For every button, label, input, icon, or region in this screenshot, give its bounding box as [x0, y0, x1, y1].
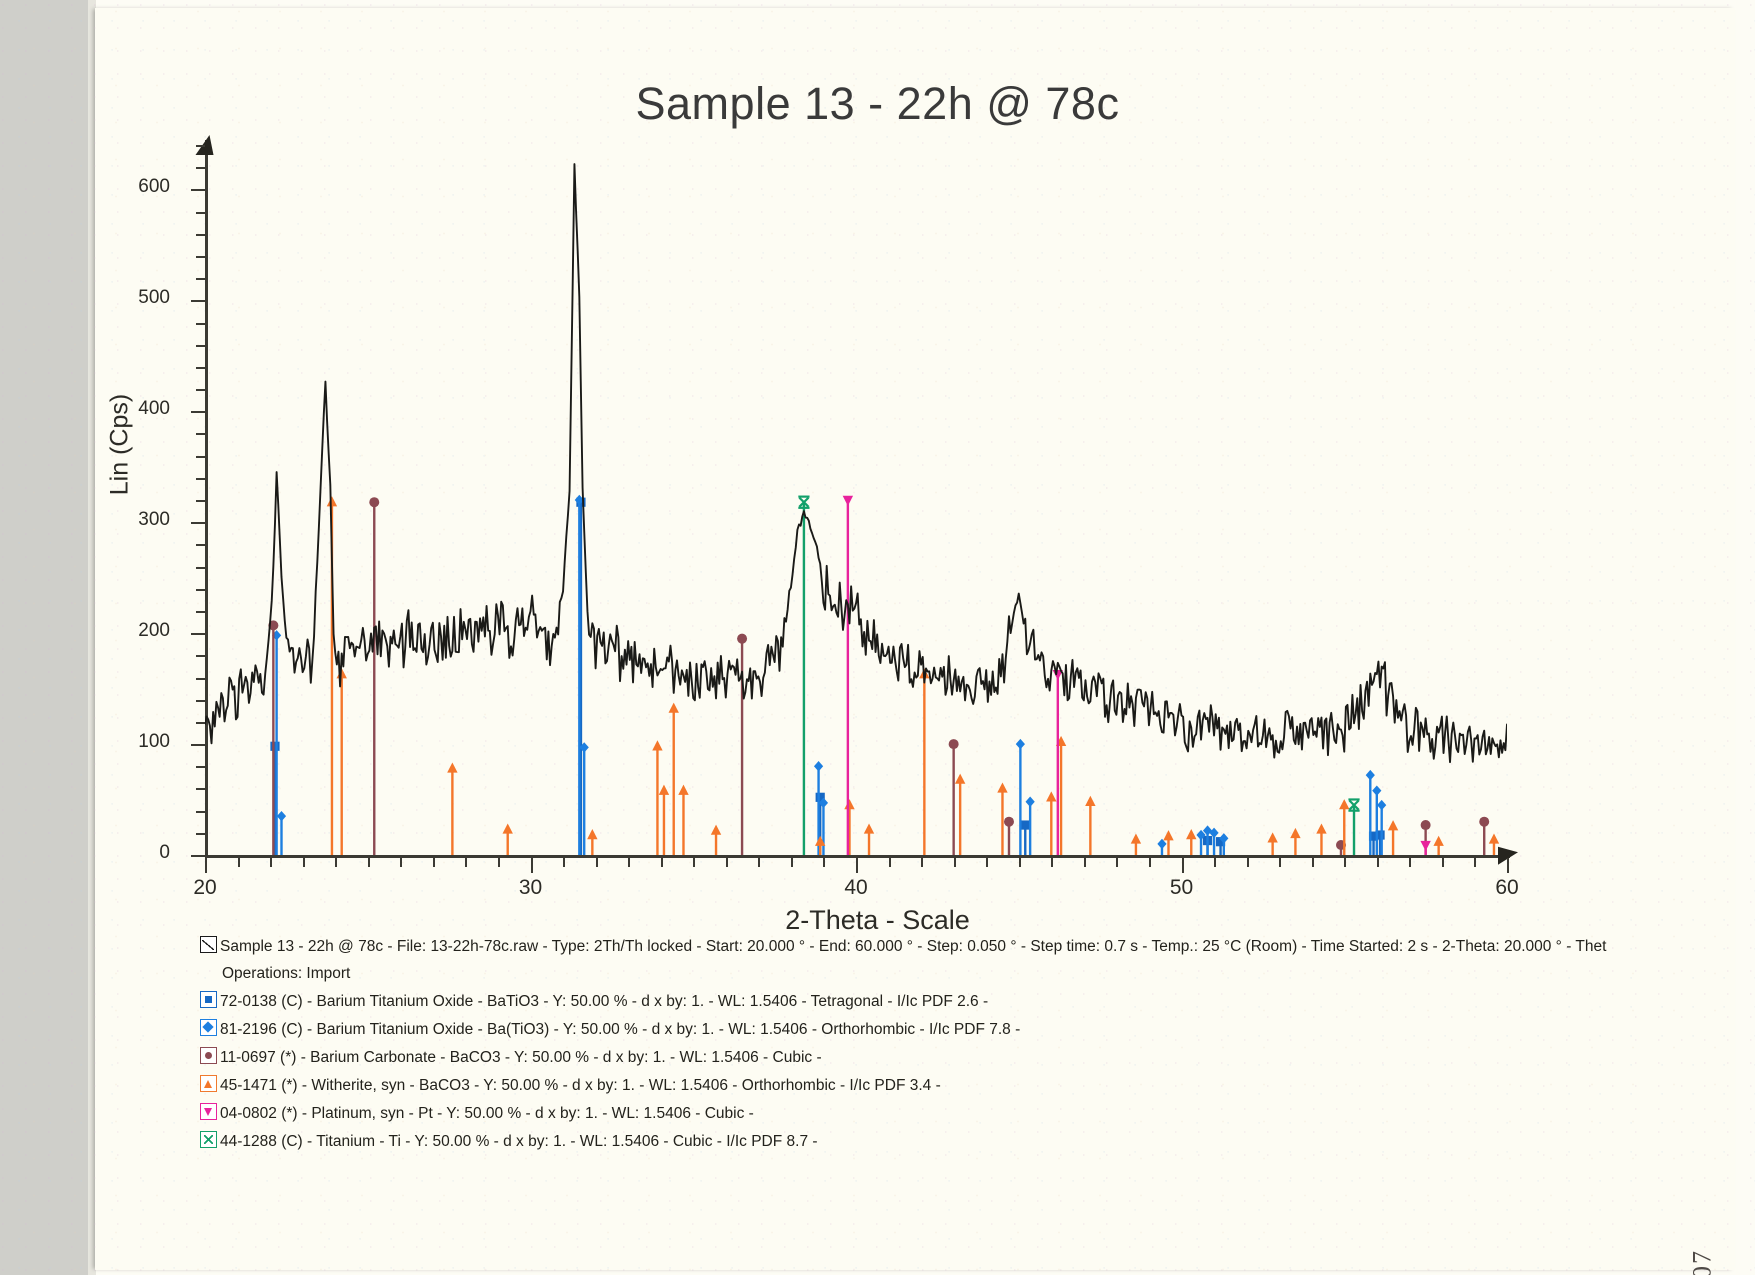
x-minor-tick	[1214, 858, 1216, 867]
y-minor-tick	[196, 212, 205, 214]
y-minor-tick	[196, 700, 205, 702]
y-major-tick	[191, 855, 205, 857]
x-minor-tick	[1019, 858, 1021, 867]
x-minor-tick	[954, 858, 956, 867]
triangle-down-marker-icon	[200, 1103, 217, 1120]
x-tick-label: 30	[519, 876, 542, 900]
x-minor-tick	[596, 858, 598, 867]
y-minor-tick	[196, 678, 205, 680]
legend-operations: Operations: Import	[200, 963, 1600, 985]
x-minor-tick	[823, 858, 825, 867]
legend-phase-row[interactable]: 81-2196 (C) - Barium Titanium Oxide - Ba…	[200, 1018, 1600, 1041]
y-minor-tick	[196, 167, 205, 169]
legend-phase-row[interactable]: 44-1288 (C) - Titanium - Ti - Y: 50.00 %…	[200, 1130, 1600, 1153]
handwritten-date-annotation: 7-8-07	[1687, 1249, 1717, 1275]
y-minor-tick	[196, 145, 205, 147]
x-tick-label: 50	[1170, 876, 1193, 900]
x-minor-tick	[628, 858, 630, 867]
x-minor-tick	[889, 858, 891, 867]
legend-phase-text: 44-1288 (C) - Titanium - Ti - Y: 50.00 %…	[220, 1130, 818, 1153]
legend-phase-rows: 72-0138 (C) - Barium Titanium Oxide - Ba…	[200, 990, 1600, 1153]
x-minor-tick	[1474, 858, 1476, 867]
y-major-tick	[191, 300, 205, 302]
x-minor-tick	[368, 858, 370, 867]
peak-marker-sticks	[268, 495, 1499, 855]
x-minor-tick	[1442, 858, 1444, 867]
x-axis-title: 2-Theta - Scale	[0, 905, 1755, 936]
x-minor-tick	[1149, 858, 1151, 867]
x-major-tick	[856, 858, 858, 873]
x-minor-tick	[563, 858, 565, 867]
x-minor-tick	[1279, 858, 1281, 867]
y-minor-tick	[196, 278, 205, 280]
y-major-tick	[191, 189, 205, 191]
y-minor-tick	[196, 367, 205, 369]
scanned-page: Sample 13 - 22h @ 78c 010020030040050060…	[0, 0, 1755, 1275]
x-minor-tick	[238, 858, 240, 867]
legend-phase-row[interactable]: 04-0802 (*) - Platinum, syn - Pt - Y: 50…	[200, 1102, 1600, 1125]
y-tick-label: 0	[110, 842, 170, 864]
y-minor-tick	[196, 256, 205, 258]
y-minor-tick	[196, 478, 205, 480]
y-major-tick	[191, 633, 205, 635]
y-minor-tick	[196, 389, 205, 391]
x-box-marker-icon	[200, 1131, 217, 1148]
x-minor-tick	[1409, 858, 1411, 867]
y-minor-tick	[196, 833, 205, 835]
x-minor-tick	[791, 858, 793, 867]
x-minor-tick	[335, 858, 337, 867]
y-minor-tick	[196, 766, 205, 768]
legend-phase-row[interactable]: 11-0697 (*) - Barium Carbonate - BaCO3 -…	[200, 1046, 1600, 1069]
x-tick-label: 60	[1495, 876, 1518, 900]
x-minor-tick	[693, 858, 695, 867]
y-minor-tick	[196, 589, 205, 591]
x-tick-label: 40	[844, 876, 867, 900]
x-minor-tick	[726, 858, 728, 867]
triangle-up-marker-icon	[200, 1075, 217, 1092]
x-major-tick	[205, 858, 207, 873]
x-minor-tick	[465, 858, 467, 867]
y-minor-tick	[196, 345, 205, 347]
x-major-tick	[1507, 858, 1509, 873]
y-major-tick	[191, 522, 205, 524]
y-minor-tick	[196, 788, 205, 790]
legend-phase-row[interactable]: 45-1471 (*) - Witherite, syn - BaCO3 - Y…	[200, 1074, 1600, 1097]
y-minor-tick	[196, 234, 205, 236]
x-minor-tick	[1377, 858, 1379, 867]
y-tick-label: 200	[110, 620, 170, 642]
x-minor-tick	[986, 858, 988, 867]
legend-phase-text: 04-0802 (*) - Platinum, syn - Pt - Y: 50…	[220, 1102, 754, 1125]
y-tick-label: 500	[110, 287, 170, 309]
x-minor-tick	[921, 858, 923, 867]
square-marker-icon	[200, 991, 217, 1008]
y-minor-tick	[196, 433, 205, 435]
legend-scan-text: Sample 13 - 22h @ 78c - File: 13-22h-78c…	[220, 935, 1606, 958]
page-left-margin	[0, 0, 89, 1275]
x-minor-tick	[1312, 858, 1314, 867]
legend-phase-row[interactable]: 72-0138 (C) - Barium Titanium Oxide - Ba…	[200, 990, 1600, 1013]
x-minor-tick	[400, 858, 402, 867]
x-minor-tick	[1344, 858, 1346, 867]
scan-trace	[205, 164, 1507, 762]
x-minor-tick	[758, 858, 760, 867]
xrd-diffractogram-plot	[205, 145, 1507, 855]
y-minor-tick	[196, 811, 205, 813]
legend-phase-text: 72-0138 (C) - Barium Titanium Oxide - Ba…	[220, 990, 988, 1013]
x-minor-tick	[661, 858, 663, 867]
y-tick-label: 600	[110, 176, 170, 198]
x-major-tick	[531, 858, 533, 873]
x-minor-tick	[1247, 858, 1249, 867]
y-minor-tick	[196, 611, 205, 613]
legend-phase-text: 81-2196 (C) - Barium Titanium Oxide - Ba…	[220, 1018, 1020, 1041]
y-minor-tick	[196, 323, 205, 325]
x-minor-tick	[433, 858, 435, 867]
y-minor-tick	[196, 544, 205, 546]
x-minor-tick	[303, 858, 305, 867]
y-minor-tick	[196, 456, 205, 458]
y-tick-label: 100	[110, 731, 170, 753]
y-axis-labels: 0100200300400500600	[110, 0, 170, 1275]
legend-phase-text: 11-0697 (*) - Barium Carbonate - BaCO3 -…	[220, 1046, 822, 1069]
y-minor-tick	[196, 567, 205, 569]
x-minor-tick	[1116, 858, 1118, 867]
x-minor-tick	[498, 858, 500, 867]
legend-phase-text: 45-1471 (*) - Witherite, syn - BaCO3 - Y…	[220, 1074, 941, 1097]
x-major-tick	[1182, 858, 1184, 873]
legend: Sample 13 - 22h @ 78c - File: 13-22h-78c…	[200, 935, 1600, 1158]
y-minor-tick	[196, 655, 205, 657]
y-axis-title: Lin (Cps)	[106, 315, 135, 575]
scan-pattern-icon	[200, 936, 217, 953]
x-minor-tick	[1084, 858, 1086, 867]
x-tick-label: 20	[193, 876, 216, 900]
y-major-tick	[191, 411, 205, 413]
circle-marker-icon	[200, 1047, 217, 1064]
plot-canvas	[205, 145, 1507, 855]
y-minor-tick	[196, 500, 205, 502]
y-major-tick	[191, 744, 205, 746]
x-minor-tick	[1051, 858, 1053, 867]
legend-row-scan: Sample 13 - 22h @ 78c - File: 13-22h-78c…	[200, 935, 1600, 958]
diamond-marker-icon	[200, 1019, 217, 1036]
y-minor-tick	[196, 722, 205, 724]
x-minor-tick	[270, 858, 272, 867]
page-title: Sample 13 - 22h @ 78c	[0, 78, 1755, 130]
